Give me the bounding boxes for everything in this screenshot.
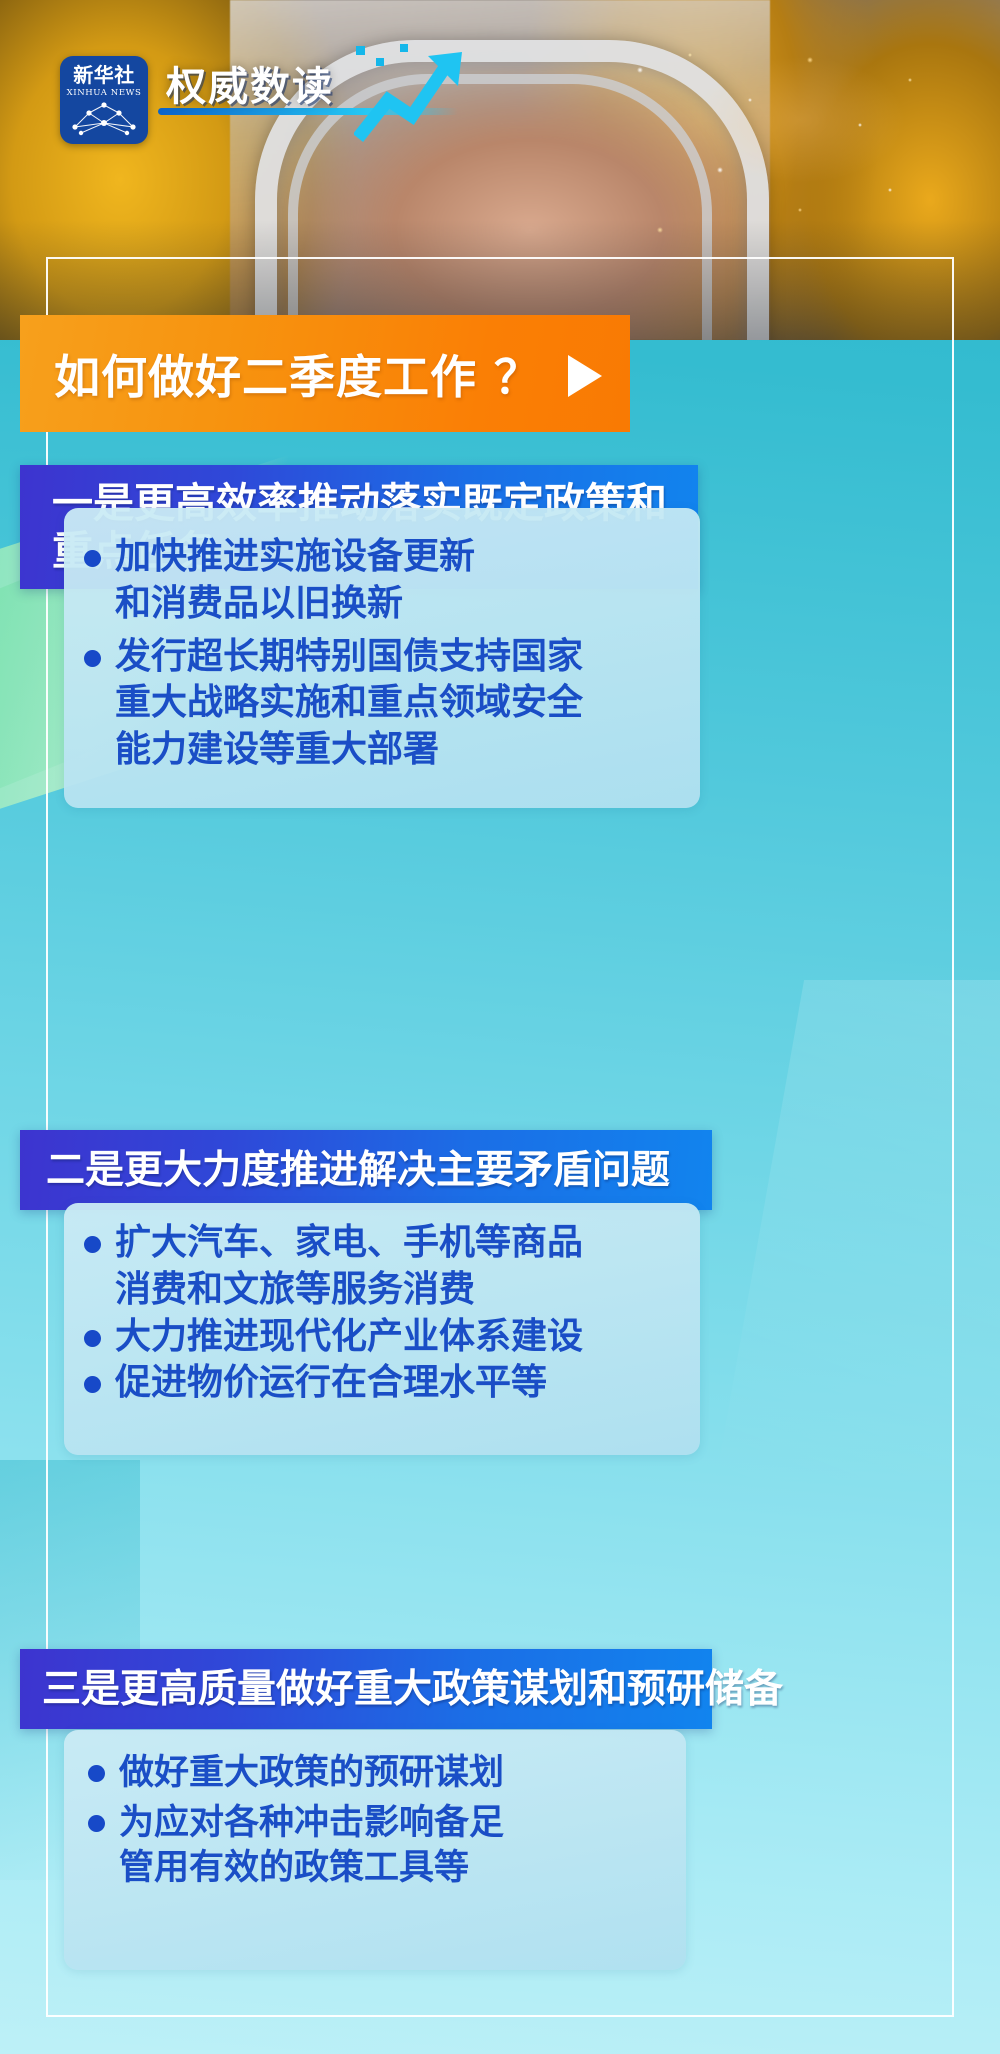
bullet-text: 为应对各种冲击影响备足 管用有效的政策工具等 <box>119 1800 504 1891</box>
infographic-poster: 新华社 XINHUA NEWS <box>0 0 1000 2054</box>
page-title: 如何做好二季度工作 ？ <box>54 341 541 407</box>
list-item: 大力推进现代化产业体系建设 <box>84 1313 694 1360</box>
hero-photo: 新华社 XINHUA NEWS <box>0 0 1000 340</box>
bullet-dot-icon <box>84 1330 101 1347</box>
main-question-banner: 如何做好二季度工作 ？ <box>20 315 630 432</box>
kicker-block: 权威数读 <box>158 48 478 144</box>
bullet-text: 扩大汽车、家电、手机等商品 消费和文旅等服务消费 <box>115 1219 583 1313</box>
light-swoosh-decoration <box>716 980 1000 1480</box>
bullet-dot-icon <box>84 1376 101 1393</box>
list-item: 促进物价运行在合理水平等 <box>84 1359 694 1406</box>
section-one-content-box: 加快推进实施设备更新 和消费品以旧换新 发行超长期特别国债支持国家 重大战略实施… <box>64 508 700 808</box>
section-heading-three: 三是更高质量做好重大政策谋划和预研储备 <box>20 1649 712 1729</box>
section-heading-two: 二是更大力度推进解决主要矛盾问题 <box>20 1130 712 1210</box>
bullet-dot-icon <box>84 1236 101 1253</box>
section-two-title: 二是更大力度推进解决主要矛盾问题 <box>46 1149 670 1192</box>
section-one-bullet-list: 加快推进实施设备更新 和消费品以旧换新 发行超长期特别国债支持国家 重大战略实施… <box>84 533 684 773</box>
bullet-text: 发行超长期特别国债支持国家 重大战略实施和重点领域安全 能力建设等重大部署 <box>115 633 583 773</box>
play-triangle-icon <box>568 355 602 397</box>
section-three-bullet-list: 做好重大政策的预研谋划 为应对各种冲击影响备足 管用有效的政策工具等 <box>88 1750 678 1891</box>
bullet-dot-icon <box>84 650 101 667</box>
list-item: 扩大汽车、家电、手机等商品 消费和文旅等服务消费 <box>84 1219 694 1313</box>
bullet-dot-icon <box>84 550 101 567</box>
xinhua-logo: 新华社 XINHUA NEWS <box>60 56 148 144</box>
section-three-title: 三是更高质量做好重大政策谋划和预研储备 <box>42 1668 783 1711</box>
network-nodes-icon <box>69 101 139 137</box>
bullet-text: 加快推进实施设备更新 和消费品以旧换新 <box>115 533 475 627</box>
section-three-content-box: 做好重大政策的预研谋划 为应对各种冲击影响备足 管用有效的政策工具等 <box>64 1730 686 1970</box>
section-two-content-box: 扩大汽车、家电、手机等商品 消费和文旅等服务消费 大力推进现代化产业体系建设 促… <box>64 1203 700 1455</box>
bullet-text: 做好重大政策的预研谋划 <box>119 1750 504 1796</box>
bullet-dot-icon <box>88 1765 105 1782</box>
kicker-title: 权威数读 <box>166 54 334 112</box>
bullet-text: 大力推进现代化产业体系建设 <box>115 1313 583 1360</box>
section-two-bullet-list: 扩大汽车、家电、手机等商品 消费和文旅等服务消费 大力推进现代化产业体系建设 促… <box>84 1219 694 1406</box>
upward-chart-arrow-icon <box>354 42 474 146</box>
logo-english-name: XINHUA NEWS <box>67 88 142 98</box>
bullet-dot-icon <box>88 1815 105 1832</box>
list-item: 发行超长期特别国债支持国家 重大战略实施和重点领域安全 能力建设等重大部署 <box>84 633 684 773</box>
logo-chinese-name: 新华社 <box>73 64 135 86</box>
list-item: 加快推进实施设备更新 和消费品以旧换新 <box>84 533 684 627</box>
list-item: 做好重大政策的预研谋划 <box>88 1750 678 1796</box>
bullet-text: 促进物价运行在合理水平等 <box>115 1359 547 1406</box>
list-item: 为应对各种冲击影响备足 管用有效的政策工具等 <box>88 1800 678 1891</box>
